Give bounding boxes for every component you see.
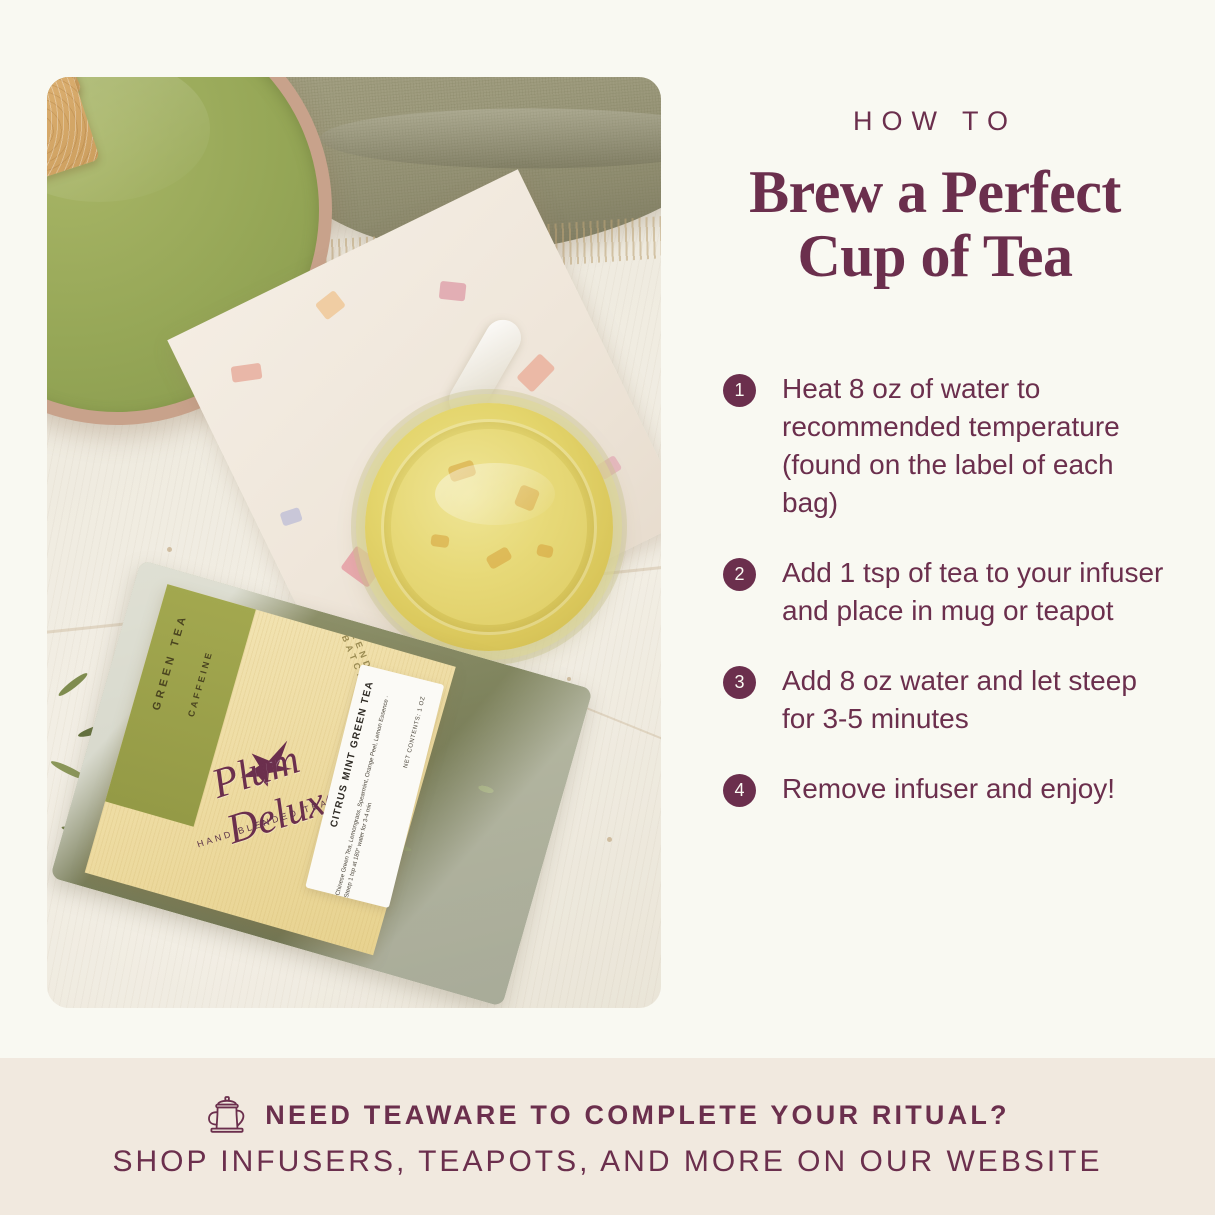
glass-teacup — [365, 403, 613, 651]
page-title-line-2: Cup of Tea — [692, 224, 1178, 288]
wood-speck — [607, 837, 612, 842]
step-text: Remove infuser and enjoy! — [782, 770, 1115, 808]
step-number-badge: 3 — [723, 666, 756, 699]
step-number-badge: 4 — [723, 774, 756, 807]
terrazzo-chip — [315, 290, 346, 321]
napkin-fold — [320, 108, 661, 168]
teapot-icon — [205, 1095, 249, 1137]
step-text: Add 1 tsp of tea to your infuser and pla… — [782, 554, 1173, 630]
orange-peel — [430, 534, 449, 548]
terrazzo-chip — [231, 363, 263, 383]
step-text: Heat 8 oz of water to recommended temper… — [782, 370, 1173, 522]
terrazzo-chip — [516, 353, 555, 393]
step-item: 2 Add 1 tsp of tea to your infuser and p… — [723, 554, 1173, 630]
step-item: 4 Remove infuser and enjoy! — [723, 770, 1173, 808]
brewed-tea-liquid — [391, 429, 587, 625]
orange-peel — [536, 543, 554, 558]
step-number-badge: 2 — [723, 558, 756, 591]
orange-peel — [485, 546, 513, 570]
wood-speck — [167, 547, 172, 552]
step-number-badge: 1 — [723, 374, 756, 407]
step-item: 3 Add 8 oz water and let steep for 3-5 m… — [723, 662, 1173, 738]
page-title-line-1: Brew a Perfect — [692, 160, 1178, 224]
kicker-text: HOW TO — [700, 106, 1170, 137]
page-title: Brew a Perfect Cup of Tea — [692, 160, 1178, 288]
cta-banner-line2: SHOP INFUSERS, TEAPOTS, AND MORE ON OUR … — [112, 1145, 1102, 1179]
cta-banner-line1: NEED TEAWARE TO COMPLETE YOUR RITUAL? — [265, 1100, 1009, 1131]
infographic-page: GREEN TEA CAFFEINE HAND BLENDED · SMALL … — [0, 0, 1215, 1215]
cta-banner[interactable]: NEED TEAWARE TO COMPLETE YOUR RITUAL? SH… — [0, 1058, 1215, 1215]
step-item: 1 Heat 8 oz of water to recommended temp… — [723, 370, 1173, 522]
hero-photo: GREEN TEA CAFFEINE HAND BLENDED · SMALL … — [47, 77, 661, 1008]
terrazzo-chip — [439, 281, 467, 302]
photo-scene: GREEN TEA CAFFEINE HAND BLENDED · SMALL … — [47, 77, 661, 1008]
step-text: Add 8 oz water and let steep for 3-5 min… — [782, 662, 1173, 738]
cup-gloss — [435, 463, 555, 525]
terrazzo-chip — [280, 507, 303, 526]
steps-list: 1 Heat 8 oz of water to recommended temp… — [723, 370, 1173, 840]
cta-banner-primary-line: NEED TEAWARE TO COMPLETE YOUR RITUAL? — [205, 1095, 1009, 1137]
